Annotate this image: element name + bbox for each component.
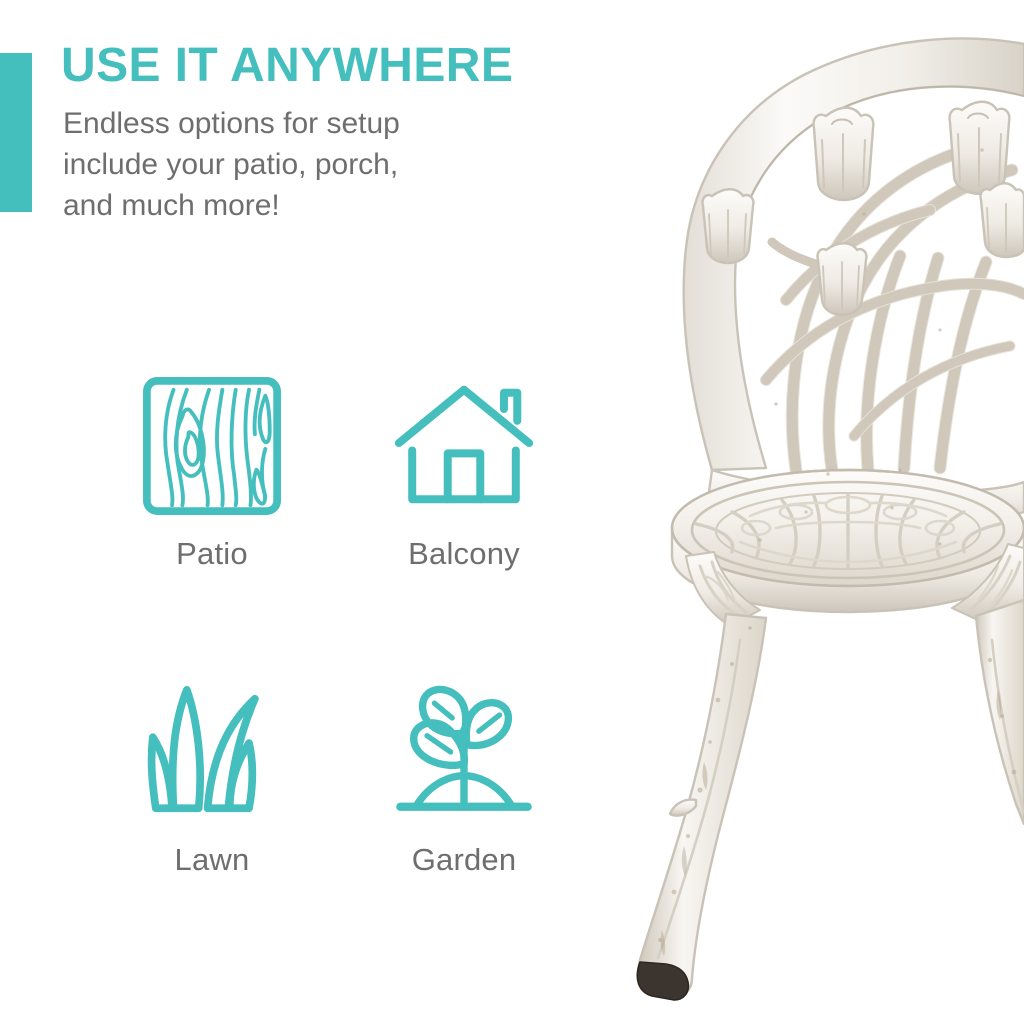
subhead-line-3: and much more!	[63, 186, 533, 227]
feature-item-garden: Garden	[360, 672, 568, 875]
feature-label: Garden	[412, 844, 517, 875]
product-image	[600, 0, 1024, 1024]
wood-plank-icon	[136, 366, 288, 526]
sprout-icon	[388, 672, 540, 832]
page-title: USE IT ANYWHERE	[61, 40, 513, 92]
feature-item-patio: Patio	[108, 366, 316, 569]
feature-label: Balcony	[408, 538, 520, 569]
feature-icon-grid: Patio Balcony	[108, 366, 568, 875]
feature-label: Lawn	[175, 844, 250, 875]
subhead-line-1: Endless options for setup	[63, 104, 533, 145]
feature-item-lawn: Lawn	[108, 672, 316, 875]
feature-item-balcony: Balcony	[360, 366, 568, 569]
house-icon	[388, 366, 540, 526]
marketing-infographic: USE IT ANYWHERE Endless options for setu…	[0, 0, 1024, 1024]
subhead-line-2: include your patio, porch,	[63, 145, 533, 186]
feature-label: Patio	[176, 538, 248, 569]
accent-bar	[0, 53, 32, 212]
grass-icon	[136, 672, 288, 832]
subhead-text: Endless options for setup include your p…	[63, 104, 533, 226]
